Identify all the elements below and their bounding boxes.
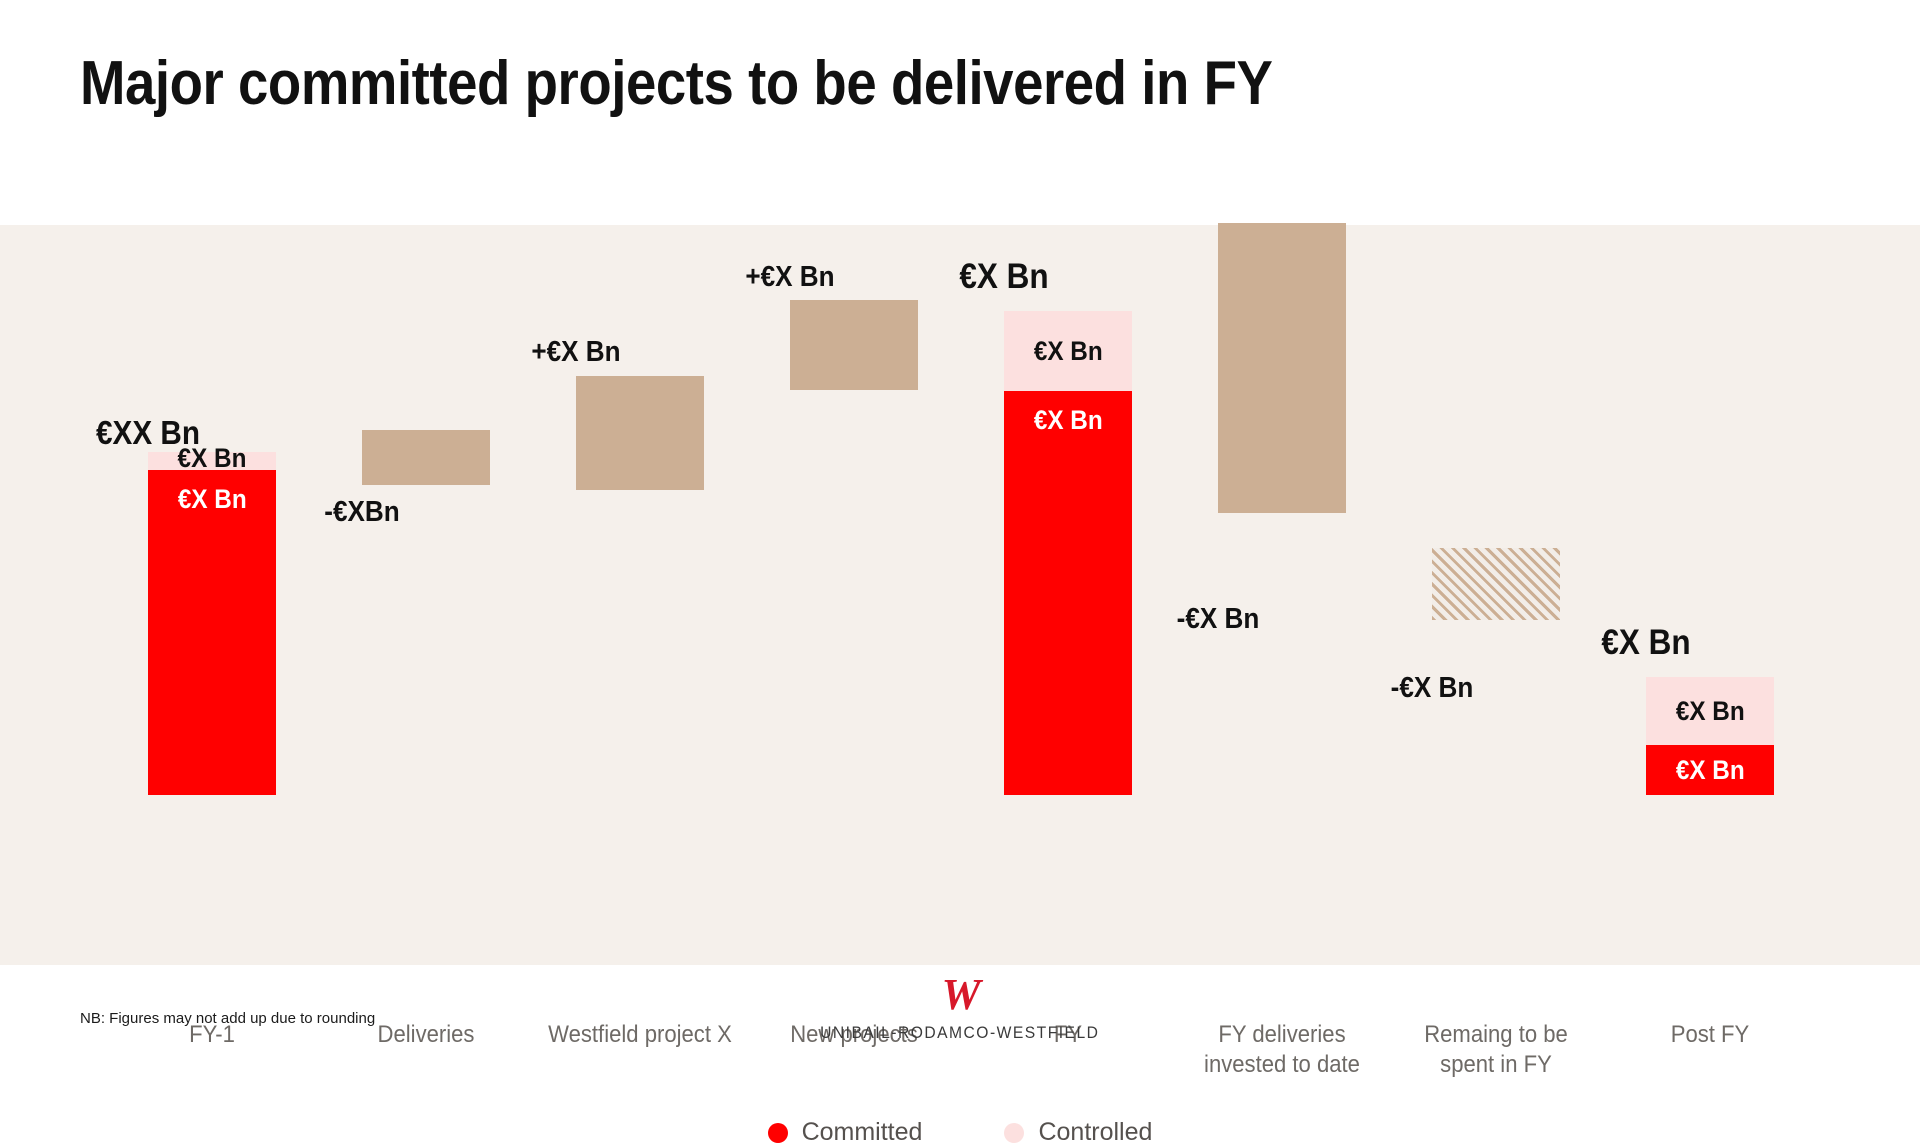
bar-segment-bridge[interactable] bbox=[790, 300, 918, 390]
segment-label: €X Bn bbox=[1034, 405, 1103, 436]
bar-segment-bridge[interactable] bbox=[576, 376, 704, 490]
bar-segment-controlled[interactable]: €X Bn bbox=[1004, 311, 1132, 391]
urw-w-icon: W bbox=[941, 975, 978, 1015]
legend-label: Committed bbox=[802, 1118, 923, 1147]
delta-label: +€X Bn bbox=[531, 336, 620, 369]
bar-segment-bridge[interactable] bbox=[362, 430, 490, 485]
bar-segment-bridge-hatched[interactable] bbox=[1432, 548, 1560, 620]
legend-item-committed[interactable]: Committed bbox=[768, 1118, 923, 1147]
legend-item-controlled[interactable]: Controlled bbox=[1004, 1118, 1152, 1147]
segment-label: €X Bn bbox=[1676, 696, 1745, 727]
delta-label: -€X Bn bbox=[1391, 672, 1474, 705]
bar-segment-controlled[interactable]: €X Bn bbox=[148, 452, 276, 470]
bar-segment-controlled[interactable]: €X Bn bbox=[1646, 677, 1774, 745]
page-title: Major committed projects to be delivered… bbox=[80, 48, 1272, 119]
chart-panel: €XX Bn €X Bn €X Bn -€XBn +€X Bn bbox=[0, 225, 1920, 965]
waterfall-chart: €XX Bn €X Bn €X Bn -€XBn +€X Bn bbox=[0, 225, 1920, 965]
delta-label: -€XBn bbox=[324, 496, 399, 529]
logo-wordmark: UNIBAIL-RODAMCO-WESTFIELD bbox=[820, 1023, 1099, 1043]
legend-label: Controlled bbox=[1038, 1118, 1152, 1147]
legend-dot-icon bbox=[1004, 1123, 1024, 1143]
segment-label: €X Bn bbox=[1034, 336, 1103, 367]
segment-label: €X Bn bbox=[178, 484, 247, 515]
total-label: €X Bn bbox=[959, 257, 1048, 297]
legend-dot-icon bbox=[768, 1123, 788, 1143]
chart-legend: Committed Controlled bbox=[0, 1118, 1920, 1147]
bar-segment-committed[interactable]: €X Bn bbox=[148, 470, 276, 795]
total-label: €X Bn bbox=[1601, 623, 1690, 663]
bar-segment-bridge[interactable] bbox=[1218, 223, 1346, 513]
bar-segment-committed[interactable]: €X Bn bbox=[1004, 391, 1132, 795]
delta-label: +€X Bn bbox=[745, 261, 834, 294]
bar-segment-committed[interactable]: €X Bn bbox=[1646, 745, 1774, 795]
company-logo: W UNIBAIL-RODAMCO-WESTFIELD bbox=[0, 975, 1920, 1043]
delta-label: -€X Bn bbox=[1177, 603, 1260, 636]
segment-label: €X Bn bbox=[1676, 755, 1745, 786]
